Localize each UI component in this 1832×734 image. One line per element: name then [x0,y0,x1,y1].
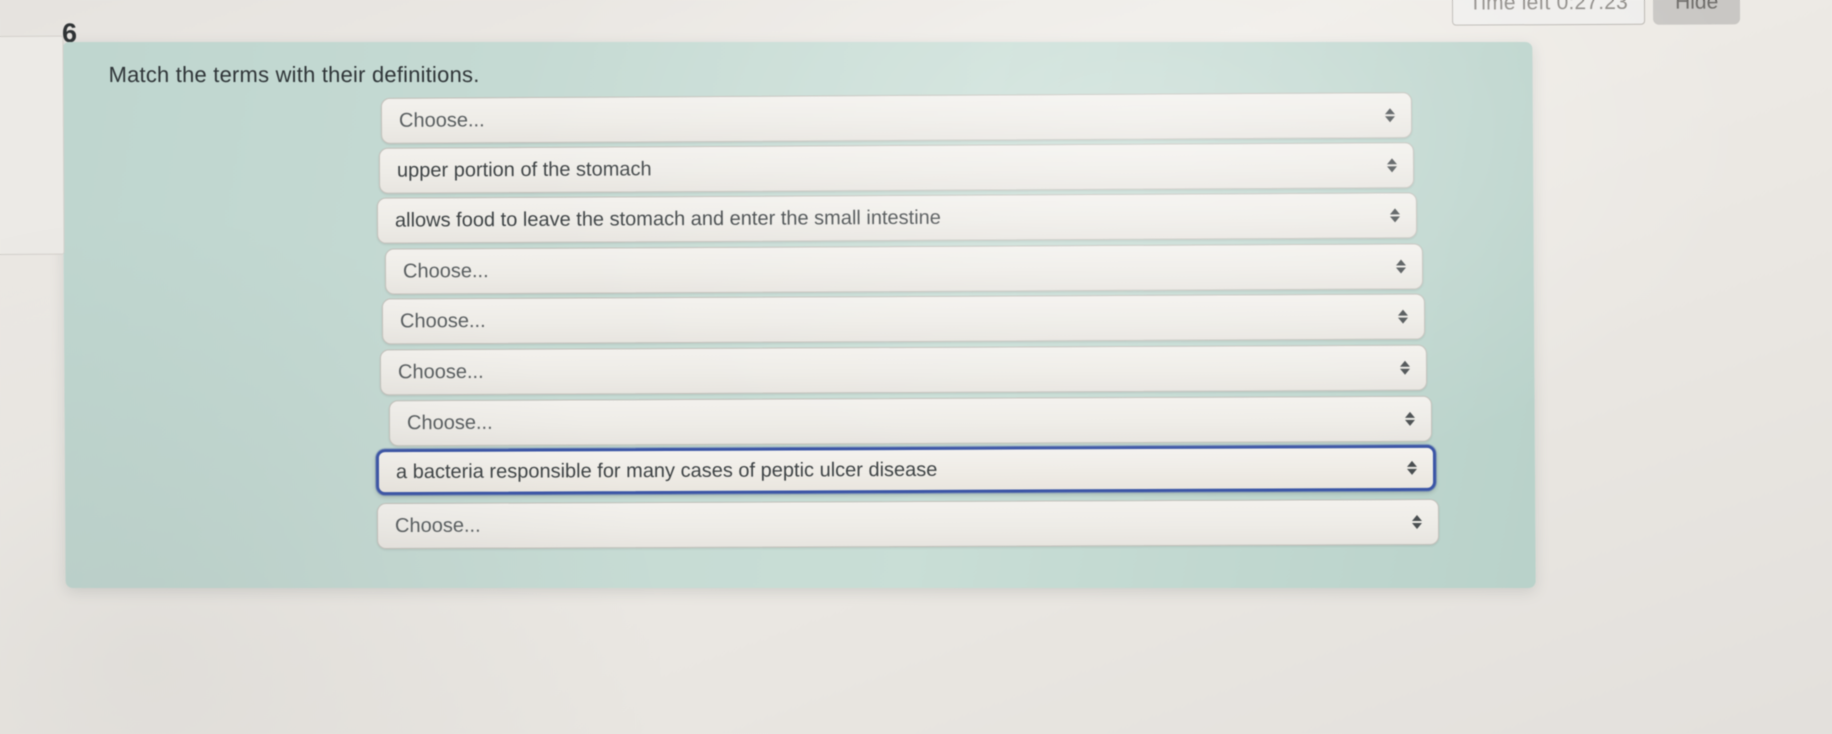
chevron-updown-icon [1396,260,1406,274]
definition-select[interactable]: Choose... [389,396,1432,447]
chevron-updown-icon [1385,108,1395,122]
definition-select[interactable]: Choose... [381,92,1412,144]
definition-select-value: Choose... [395,514,481,537]
definition-select[interactable]: upper portion of the stomach [379,142,1414,194]
chevron-updown-icon [1387,158,1397,172]
chevron-updown-icon [1407,461,1417,475]
definition-select-value: Choose... [398,360,484,383]
definition-select-value: Choose... [400,309,486,332]
definition-select-value: allows food to leave the stomach and ent… [395,206,941,232]
definition-select-value: a bacteria responsible for many cases of… [396,458,937,483]
timer-bar: Time left 0:27:23 Hide [1452,0,1740,26]
screen-photo: Time left 0:27:23 Hide 6 d t of Match th… [0,0,1832,734]
definition-select-value: Choose... [399,109,485,132]
hide-timer-button[interactable]: Hide [1653,0,1740,25]
chevron-updown-icon [1390,208,1400,222]
definition-select[interactable]: a bacteria responsible for many cases of… [376,445,1436,495]
definition-select-value: Choose... [407,411,493,434]
definition-select[interactable]: Choose... [385,243,1423,294]
chevron-updown-icon [1405,412,1415,426]
definition-select[interactable]: allows food to leave the stomach and ent… [377,192,1417,243]
definition-select-value: upper portion of the stomach [397,158,652,182]
time-left-display: Time left 0:27:23 [1452,0,1645,26]
definition-select[interactable]: Choose... [377,499,1439,549]
definition-select[interactable]: Choose... [382,294,1425,345]
definition-select-value: Choose... [403,260,489,283]
matching-rows: Barrett esophagusChoose...fundusupper po… [0,0,1832,734]
chevron-updown-icon [1400,361,1410,375]
chevron-updown-icon [1398,310,1408,324]
definition-select[interactable]: Choose... [380,345,1427,396]
chevron-updown-icon [1412,515,1422,529]
